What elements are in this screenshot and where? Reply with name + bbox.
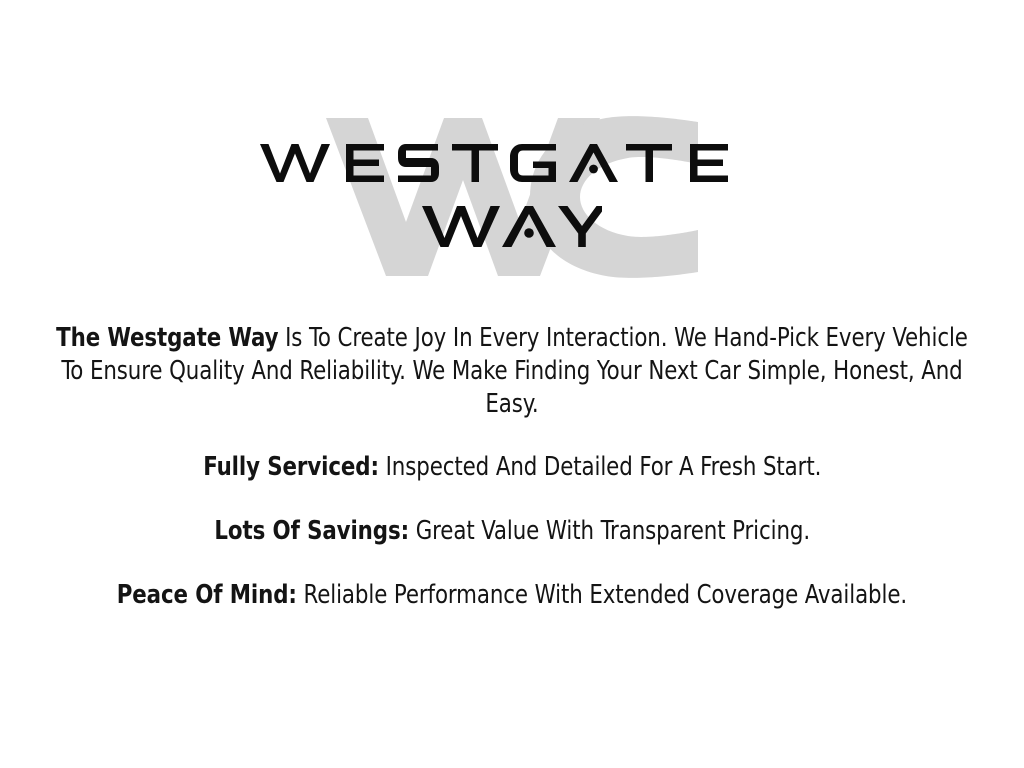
paragraph-lots-of-savings: Lots Of Savings: Great Value With Transp…: [0, 515, 1024, 548]
paragraph-lots-of-savings-text: Great Value With Transparent Pricing.: [409, 516, 810, 546]
paragraph-fully-serviced-text: Inspected And Detailed For A Fresh Start…: [379, 452, 821, 482]
paragraph-peace-of-mind-lead: Peace Of Mind:: [117, 580, 297, 610]
paragraph-fully-serviced: Fully Serviced: Inspected And Detailed F…: [0, 451, 1024, 484]
westgate-way-wordmark: [0, 100, 1024, 290]
wordmark-line-way: [422, 202, 602, 250]
slide-canvas: The Westgate Way Is To Create Joy In Eve…: [0, 0, 1024, 768]
logo-block: [0, 100, 1024, 290]
spacer: [0, 484, 1024, 515]
paragraph-peace-of-mind: Peace Of Mind: Reliable Performance With…: [0, 579, 1024, 612]
paragraph-intro-lead: The Westgate Way: [56, 323, 278, 353]
paragraph-peace-of-mind-text: Reliable Performance With Extended Cover…: [297, 580, 907, 610]
spacer: [0, 421, 1024, 451]
paragraph-intro: The Westgate Way Is To Create Joy In Eve…: [0, 322, 1024, 421]
spacer: [0, 548, 1024, 579]
paragraph-fully-serviced-lead: Fully Serviced:: [203, 452, 379, 482]
paragraph-lots-of-savings-lead: Lots Of Savings:: [214, 516, 409, 546]
wordmark-line-westgate: [260, 140, 764, 186]
body-copy: The Westgate Way Is To Create Joy In Eve…: [0, 322, 1024, 612]
